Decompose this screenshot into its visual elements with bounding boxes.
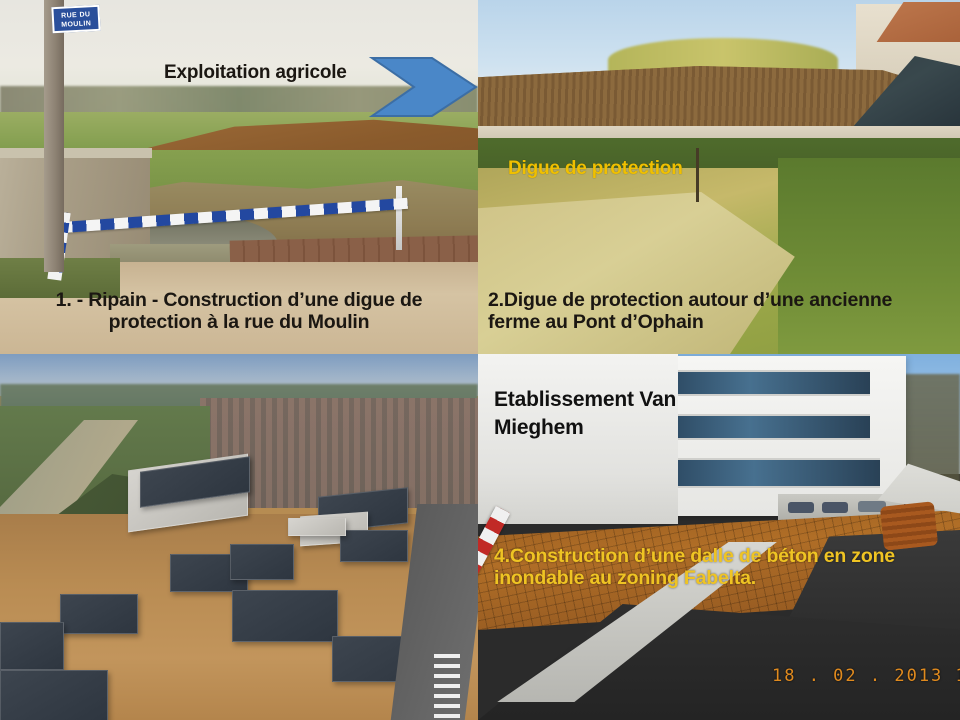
window-band-bottom	[670, 458, 880, 488]
panel-4-caption-line-1: 4.Construction d’une dalle de béton en z…	[494, 546, 950, 568]
panel-1-rue-du-moulin[interactable]: RUE DU MOULIN Exploitation agricole 1. -…	[0, 0, 478, 354]
panel-3-zoning-fabelta-flood[interactable]: Etablissement Van Mieghem 3.Zoning Fabel…	[0, 354, 478, 720]
truck-row	[288, 518, 346, 536]
overlay-label-exploitation-agricole: Exploitation agricole	[164, 62, 347, 83]
photo-zoning-fabelta-flood	[0, 354, 478, 720]
office-building-c	[232, 590, 338, 642]
panel-2-pont-dophain[interactable]: Digue de protection 2.Digue de protectio…	[478, 0, 960, 354]
metal-stake	[696, 148, 699, 202]
slide-canvas: RUE DU MOULIN Exploitation agricole 1. -…	[0, 0, 960, 720]
panel-2-caption-line-1: 2.Digue de protection autour d’une ancie…	[488, 290, 958, 312]
cable-drum	[880, 501, 938, 550]
office-building	[656, 356, 906, 516]
chevron-right-arrow	[372, 56, 476, 118]
office-building-d	[60, 594, 138, 634]
overlay-label-digue-de-protection: Digue de protection	[508, 158, 683, 179]
panel-2-caption-line-2: ferme au Pont d’Ophain	[488, 312, 958, 334]
parked-car	[822, 502, 848, 513]
panel-4-caption-line-2: inondable au zoning Fabelta.	[494, 568, 950, 590]
overlay-label-etablissement-van-mieghem: Etablissement Van Mieghem	[494, 386, 676, 443]
utility-pole	[44, 0, 64, 272]
overlay-label-line-2: Mieghem	[494, 414, 676, 442]
panel-1-caption-line-2: protection à la rue du Moulin	[0, 312, 478, 334]
panel-2-caption: 2.Digue de protection autour d’une ancie…	[488, 290, 958, 334]
panel-1-caption-line-1: 1. - Ripain - Construction d’une digue d…	[0, 290, 478, 312]
window-band-top	[670, 370, 870, 396]
window-band-middle	[670, 414, 870, 440]
overlay-label-line-1: Etablissement Van	[494, 386, 676, 414]
office-building-b	[230, 544, 294, 580]
office-building-e	[0, 622, 64, 670]
parked-car	[788, 502, 814, 513]
camera-timestamp: 18 . 02 . 2013 15 : 52	[772, 666, 960, 686]
panel-4-dalle-de-beton[interactable]: Etablissement Van Mieghem 4.Construction…	[478, 354, 960, 720]
panel-1-caption: 1. - Ripain - Construction d’une digue d…	[0, 290, 478, 334]
industrial-building-c	[340, 530, 408, 562]
fence-post	[396, 186, 402, 250]
road-markings	[434, 654, 460, 720]
street-name-sign: RUE DU MOULIN	[51, 5, 100, 33]
wall-cap-layer	[0, 148, 152, 158]
street-sign-line-2: MOULIN	[54, 19, 98, 30]
panel-4-caption: 4.Construction d’une dalle de béton en z…	[494, 546, 950, 590]
office-building-f	[0, 670, 108, 720]
